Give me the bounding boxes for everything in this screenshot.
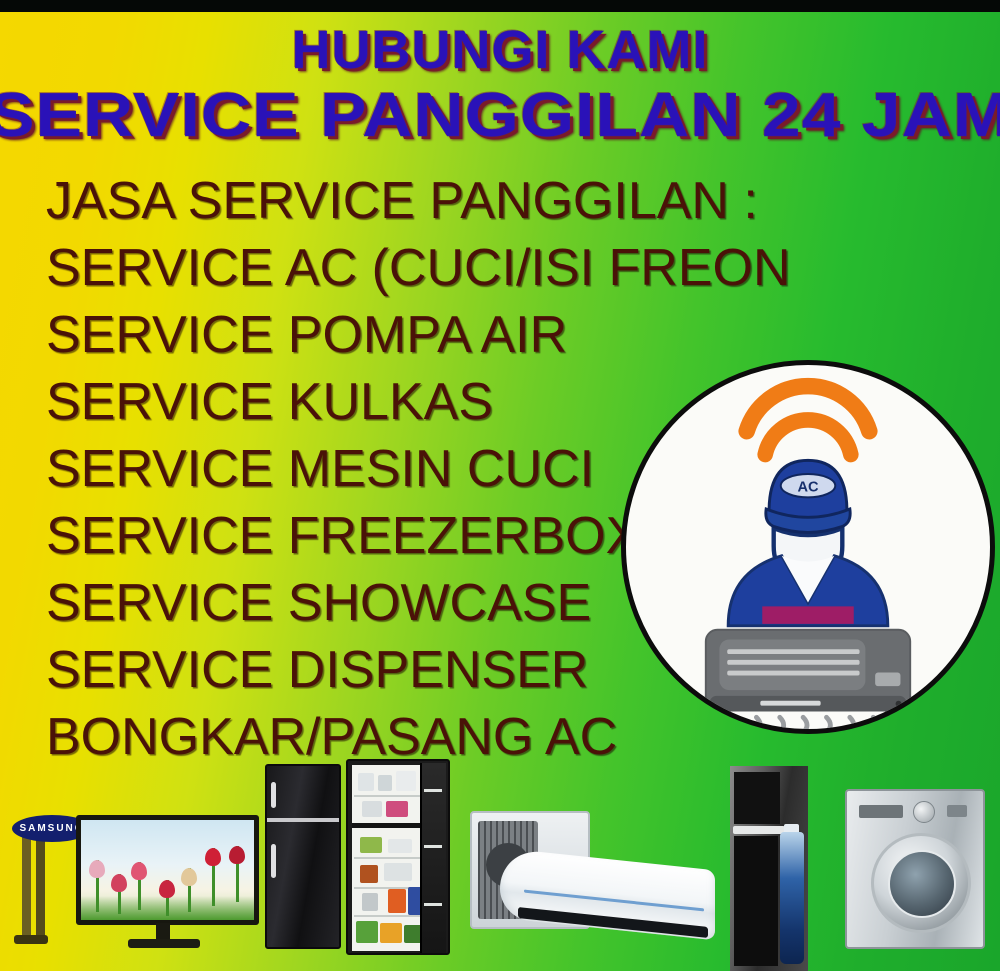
- tulip-bloom: [181, 868, 197, 886]
- television: SAMSUNG: [10, 793, 260, 953]
- service-list: JASA SERVICE PANGGILAN : SERVICE AC (CUC…: [46, 168, 686, 771]
- dispenser-lower-panel: [734, 836, 778, 966]
- fridge-door-shelf: [424, 845, 442, 848]
- fridge-item: [388, 839, 412, 853]
- fridge-item: [380, 923, 402, 943]
- air-conditioner-split-unit: [500, 859, 715, 951]
- washer-button: [947, 805, 967, 817]
- water-dispenser: [730, 766, 808, 971]
- fridge-interior: [352, 765, 426, 951]
- headline-secondary: SERVICE PANGGILAN 24 JAM: [0, 84, 1000, 148]
- washing-machine: [845, 789, 985, 949]
- fridge-item: [360, 837, 382, 853]
- fridge-door-seam: [267, 818, 339, 822]
- service-line-ac: SERVICE AC (CUCI/ISI FREON: [46, 235, 686, 302]
- dispenser-water-bottle: [780, 832, 804, 964]
- fridge-item: [396, 771, 416, 791]
- tulip-bloom: [229, 846, 245, 864]
- dispenser-drip-tray: [733, 826, 785, 834]
- fridge-item: [360, 865, 378, 883]
- washer-door: [871, 833, 971, 933]
- service-line-freezerbox: SERVICE FREEZERBOX: [46, 503, 686, 570]
- poster-canvas: HUBUNGI KAMI SERVICE PANGGILAN 24 JAM JA…: [0, 0, 1000, 971]
- tv-sign-pole: [36, 831, 45, 936]
- fridge-item: [362, 893, 378, 911]
- tv-sign-pole-back: [22, 829, 31, 937]
- tv-screen: [76, 815, 259, 925]
- top-black-bar: [0, 0, 1000, 12]
- appliance-row: SAMSUNG: [0, 756, 1000, 971]
- tulip-bloom: [111, 874, 127, 892]
- technician-circle-badge: AC: [621, 360, 995, 734]
- fridge-shelf: [354, 915, 424, 917]
- service-line-heading: JASA SERVICE PANGGILAN :: [46, 168, 686, 235]
- tv-sign-foot: [14, 935, 48, 944]
- fridge-handle-bottom: [271, 844, 276, 878]
- technician-uniform: [728, 556, 888, 626]
- tulip-bloom: [89, 860, 105, 878]
- fridge-shelf: [354, 857, 424, 859]
- service-line-showcase: SERVICE SHOWCASE: [46, 570, 686, 637]
- fridge-item: [362, 801, 382, 817]
- refrigerator-closed: [265, 764, 341, 949]
- tulip-bloom: [205, 848, 221, 866]
- headline-primary: HUBUNGI KAMI: [0, 22, 1000, 78]
- washer-door-glass: [888, 850, 956, 918]
- service-line-mesin-cuci: SERVICE MESIN CUCI: [46, 436, 686, 503]
- fridge-open-door: [420, 763, 446, 953]
- fridge-item: [388, 889, 406, 913]
- headline-block: HUBUNGI KAMI SERVICE PANGGILAN 24 JAM: [0, 22, 1000, 149]
- washer-control-panel: [855, 799, 979, 825]
- fridge-door-shelf: [424, 789, 442, 792]
- tulip-bloom: [131, 862, 147, 880]
- cap-badge-text: AC: [797, 480, 819, 496]
- washer-display: [859, 805, 903, 818]
- fridge-shelf: [354, 795, 424, 797]
- fridge-item: [386, 801, 408, 817]
- fridge-freezer-divider: [352, 823, 426, 828]
- fridge-handle-top: [271, 782, 276, 808]
- washer-program-knob: [913, 801, 935, 823]
- dispenser-top-panel: [734, 772, 780, 824]
- service-line-pompa-air: SERVICE POMPA AIR: [46, 302, 686, 369]
- service-line-dispenser: SERVICE DISPENSER: [46, 637, 686, 704]
- tv-stand-base: [128, 939, 200, 948]
- fridge-item: [378, 775, 392, 791]
- samsung-logo-text: SAMSUNG: [19, 823, 84, 834]
- fridge-item: [384, 863, 412, 881]
- tulip-bloom: [159, 880, 175, 898]
- fridge-item: [356, 921, 378, 943]
- service-line-kulkas: SERVICE KULKAS: [46, 369, 686, 436]
- fridge-item: [358, 773, 374, 791]
- refrigerator-open: [346, 759, 450, 955]
- fridge-door-shelf: [424, 903, 442, 906]
- technician-illustration: AC: [626, 365, 990, 729]
- air-conditioner-unit: [706, 630, 910, 712]
